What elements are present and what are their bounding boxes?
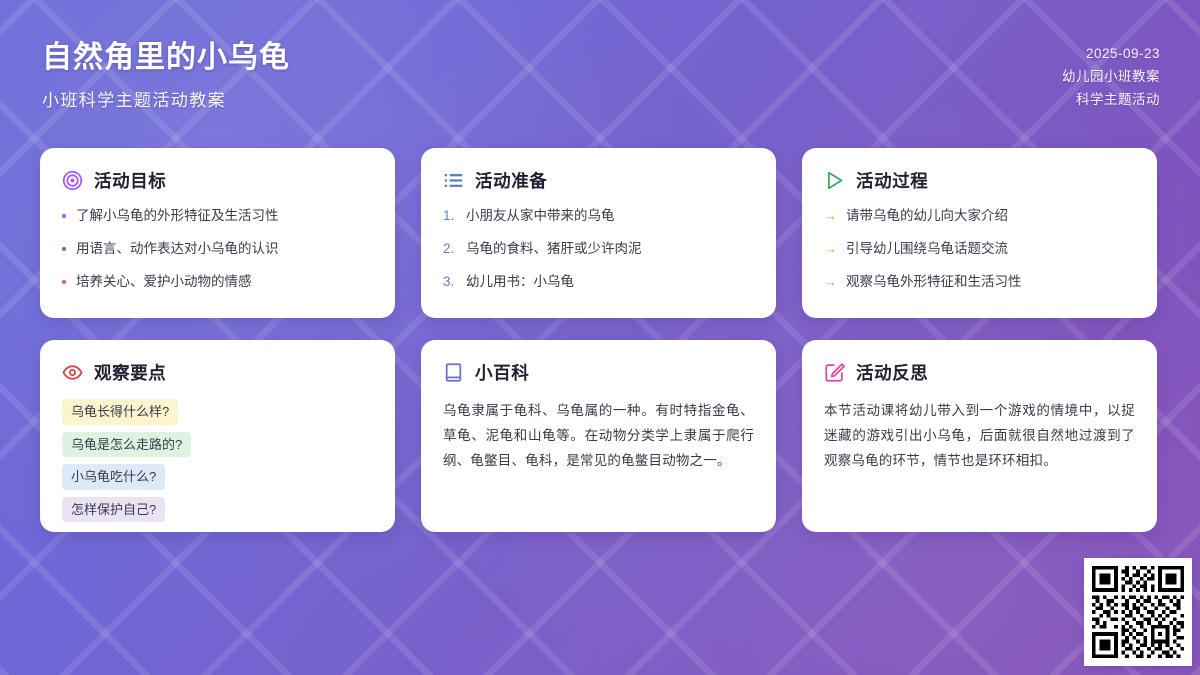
edit-square-icon xyxy=(824,362,845,383)
card-header: 活动目标 xyxy=(62,168,373,193)
preparation-list: 1. 小朋友从家中带来的乌龟 2. 乌龟的食料、猪肝或少许肉泥 3. 幼儿用书：… xyxy=(443,207,754,292)
list-item: 培养关心、爱护小动物的情感 xyxy=(62,273,373,292)
list-item-text: 请带乌龟的幼儿向大家介绍 xyxy=(846,207,1008,226)
target-icon xyxy=(62,170,83,191)
card-title: 小百科 xyxy=(475,360,529,385)
list-item: → 引导幼儿围绕乌龟话题交流 xyxy=(824,240,1135,259)
list-item: 乌龟长得什么样? xyxy=(62,399,178,425)
card-title: 活动反思 xyxy=(856,360,928,385)
card-header: 活动反思 xyxy=(824,360,1135,385)
card-activity-preparation: 活动准备 1. 小朋友从家中带来的乌龟 2. 乌龟的食料、猪肝或少许肉泥 3. … xyxy=(421,148,776,318)
card-title: 活动准备 xyxy=(475,168,547,193)
list-item-text: 乌龟的食料、猪肝或少许肉泥 xyxy=(466,240,642,259)
lesson-plan-page: 自然角里的小乌龟 小班科学主题活动教案 2025-09-23 幼儿园小班教案 科… xyxy=(0,0,1200,675)
meta-category: 幼儿园小班教案 xyxy=(1062,65,1160,88)
header-meta: 2025-09-23 幼儿园小班教案 科学主题活动 xyxy=(1062,36,1160,112)
list-item: 乌龟是怎么走路的? xyxy=(62,432,191,458)
reflection-paragraph: 本节活动课将幼儿带入到一个游戏的情境中，以捉迷藏的游戏引出小乌龟，后面就很自然地… xyxy=(824,399,1135,474)
list-item-text: 幼儿用书：小乌龟 xyxy=(466,273,574,292)
page-subtitle: 小班科学主题活动教案 xyxy=(42,86,290,111)
list-item: 2. 乌龟的食料、猪肝或少许肉泥 xyxy=(443,240,754,259)
arrow-right-icon: → xyxy=(824,207,837,225)
list-item-number: 3. xyxy=(443,273,458,292)
list-item: → 请带乌龟的幼儿向大家介绍 xyxy=(824,207,1135,226)
card-title: 活动目标 xyxy=(94,168,166,193)
arrow-right-icon: → xyxy=(824,273,837,291)
card-header: 活动准备 xyxy=(443,168,754,193)
card-activity-goals: 活动目标 了解小乌龟的外形特征及生活习性 用语言、动作表达对小乌龟的认识 培养关… xyxy=(40,148,395,318)
process-list: → 请带乌龟的幼儿向大家介绍 → 引导幼儿围绕乌龟话题交流 → 观察乌龟外形特征… xyxy=(824,207,1135,292)
card-grid: 活动目标 了解小乌龟的外形特征及生活习性 用语言、动作表达对小乌龟的认识 培养关… xyxy=(40,148,1160,532)
list-item-text: 培养关心、爱护小动物的情感 xyxy=(76,273,252,292)
card-title: 观察要点 xyxy=(94,360,166,385)
list-item-number: 1. xyxy=(443,207,458,226)
title-block: 自然角里的小乌龟 小班科学主题活动教案 xyxy=(42,36,290,111)
list-item: 怎样保护自己? xyxy=(62,497,165,523)
book-icon xyxy=(443,362,464,383)
list-item-number: 2. xyxy=(443,240,458,259)
observation-tag-list: 乌龟长得什么样? 乌龟是怎么走路的? 小乌龟吃什么? 怎样保护自己? xyxy=(62,399,373,522)
card-observation-points: 观察要点 乌龟长得什么样? 乌龟是怎么走路的? 小乌龟吃什么? 怎样保护自己? xyxy=(40,340,395,532)
card-activity-process: 活动过程 → 请带乌龟的幼儿向大家介绍 → 引导幼儿围绕乌龟话题交流 → 观察乌… xyxy=(802,148,1157,318)
card-header: 小百科 xyxy=(443,360,754,385)
card-header: 活动过程 xyxy=(824,168,1135,193)
qr-code-image xyxy=(1092,566,1184,658)
page-title: 自然角里的小乌龟 xyxy=(42,40,290,75)
card-encyclopedia: 小百科 乌龟隶属于龟科、乌龟属的一种。有时特指金龟、草龟、泥龟和山龟等。在动物分… xyxy=(421,340,776,532)
meta-theme: 科学主题活动 xyxy=(1062,88,1160,111)
bullet-dot-icon xyxy=(62,214,66,218)
eye-icon xyxy=(62,362,83,383)
page-header: 自然角里的小乌龟 小班科学主题活动教案 2025-09-23 幼儿园小班教案 科… xyxy=(0,0,1200,132)
list-item: 3. 幼儿用书：小乌龟 xyxy=(443,273,754,292)
list-item-text: 了解小乌龟的外形特征及生活习性 xyxy=(76,207,279,226)
list-item-text: 引导幼儿围绕乌龟话题交流 xyxy=(846,240,1008,259)
goals-list: 了解小乌龟的外形特征及生活习性 用语言、动作表达对小乌龟的认识 培养关心、爱护小… xyxy=(62,207,373,292)
list-item: 小乌龟吃什么? xyxy=(62,464,165,490)
encyclopedia-paragraph: 乌龟隶属于龟科、乌龟属的一种。有时特指金龟、草龟、泥龟和山龟等。在动物分类学上隶… xyxy=(443,399,754,474)
list-item: 了解小乌龟的外形特征及生活习性 xyxy=(62,207,373,226)
list-item: 用语言、动作表达对小乌龟的认识 xyxy=(62,240,373,259)
list-item-text: 观察乌龟外形特征和生活习性 xyxy=(846,273,1022,292)
meta-date: 2025-09-23 xyxy=(1062,42,1160,65)
qr-code[interactable] xyxy=(1084,558,1192,666)
list-item: 1. 小朋友从家中带来的乌龟 xyxy=(443,207,754,226)
card-header: 观察要点 xyxy=(62,360,373,385)
arrow-right-icon: → xyxy=(824,240,837,258)
list-item-text: 用语言、动作表达对小乌龟的认识 xyxy=(76,240,279,259)
bullet-dot-icon xyxy=(62,280,66,284)
bullet-dot-icon xyxy=(62,247,66,251)
list-icon xyxy=(443,170,464,191)
play-triangle-icon xyxy=(824,170,845,191)
card-activity-reflection: 活动反思 本节活动课将幼儿带入到一个游戏的情境中，以捉迷藏的游戏引出小乌龟，后面… xyxy=(802,340,1157,532)
card-title: 活动过程 xyxy=(856,168,928,193)
list-item: → 观察乌龟外形特征和生活习性 xyxy=(824,273,1135,292)
list-item-text: 小朋友从家中带来的乌龟 xyxy=(466,207,615,226)
